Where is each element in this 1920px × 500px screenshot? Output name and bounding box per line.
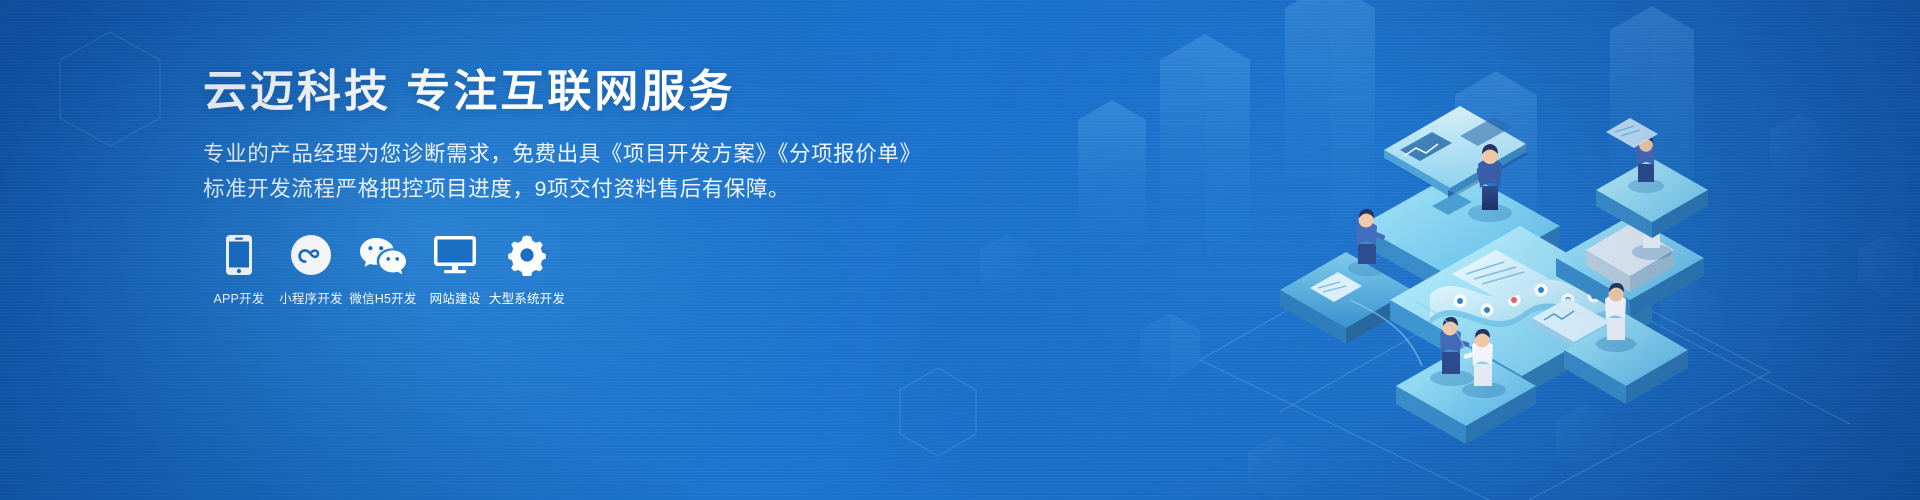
service-item-website[interactable]: 网站建设 xyxy=(419,232,491,307)
banner-text-block: 云迈科技 专注互联网服务 专业的产品经理为您诊断需求，免费出具《项目开发方案》《… xyxy=(203,66,1103,207)
service-icon-list: APP开发 小程序开发 xyxy=(203,232,563,307)
service-label-website: 网站建设 xyxy=(430,288,481,307)
service-label-large-system: 大型系统开发 xyxy=(489,288,565,307)
hero-banner: 云迈科技 专注互联网服务 专业的产品经理为您诊断需求，免费出具《项目开发方案》《… xyxy=(0,0,1920,500)
service-label-mini-program: 小程序开发 xyxy=(279,288,343,307)
subtitle-line-2: 标准开发流程严格把控项目进度，9项交付资料售后有保障。 xyxy=(203,172,1103,207)
mini-program-icon xyxy=(290,232,332,278)
service-item-large-system[interactable]: 大型系统开发 xyxy=(491,232,563,307)
gear-icon xyxy=(506,232,548,278)
wechat-icon xyxy=(358,232,408,278)
service-item-wechat-h5[interactable]: 微信H5开发 xyxy=(347,232,419,307)
page-title: 云迈科技 专注互联网服务 xyxy=(203,66,1103,118)
service-item-mini-program[interactable]: 小程序开发 xyxy=(275,232,347,307)
service-label-wechat-h5: 微信H5开发 xyxy=(349,288,416,307)
banner-subtitle: 专业的产品经理为您诊断需求，免费出具《项目开发方案》《分项报价单》 标准开发流程… xyxy=(203,137,1103,207)
mobile-phone-icon xyxy=(225,232,253,278)
isometric-illustration xyxy=(1160,0,1920,500)
monitor-icon xyxy=(433,232,477,278)
subtitle-line-1: 专业的产品经理为您诊断需求，免费出具《项目开发方案》《分项报价单》 xyxy=(203,137,1103,172)
service-item-app[interactable]: APP开发 xyxy=(203,232,275,307)
service-label-app: APP开发 xyxy=(213,288,264,307)
